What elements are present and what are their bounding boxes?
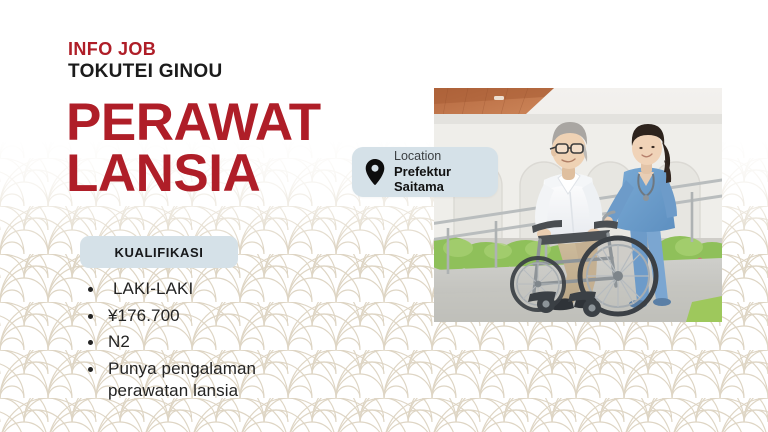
kicker-info-job: INFO JOB <box>68 40 156 58</box>
map-pin-icon <box>365 159 385 185</box>
qualifications-badge-label: KUALIFIKASI <box>115 245 204 260</box>
list-item: Punya pengalaman <box>86 358 366 381</box>
list-item: LAKI-LAKI <box>86 278 366 301</box>
location-label: Location <box>394 149 451 164</box>
list-item: ¥176.700 <box>86 305 366 328</box>
headline-line-1: PERAWAT <box>66 98 321 149</box>
location-value-line-1: Prefektur <box>394 164 451 179</box>
location-value: Prefektur Saitama <box>394 164 451 195</box>
location-text: Location Prefektur Saitama <box>394 149 451 194</box>
page-title: PERAWAT LANSIA <box>66 98 321 200</box>
list-item: perawatan lansia <box>86 380 366 403</box>
job-photo-illustration <box>434 88 722 322</box>
job-photo <box>434 88 722 322</box>
qualifications-list: LAKI-LAKI¥176.700N2Punya pengalamanperaw… <box>86 278 366 407</box>
qualifications-badge: KUALIFIKASI <box>80 236 238 268</box>
list-item: N2 <box>86 331 366 354</box>
location-value-line-2: Saitama <box>394 179 451 194</box>
poster-canvas: INFO JOB TOKUTEI GINOU PERAWAT LANSIA KU… <box>0 0 768 432</box>
kicker-tokutei-ginou: TOKUTEI GINOU <box>68 62 223 81</box>
location-badge: Location Prefektur Saitama <box>352 147 498 197</box>
headline-line-2: LANSIA <box>66 149 321 200</box>
